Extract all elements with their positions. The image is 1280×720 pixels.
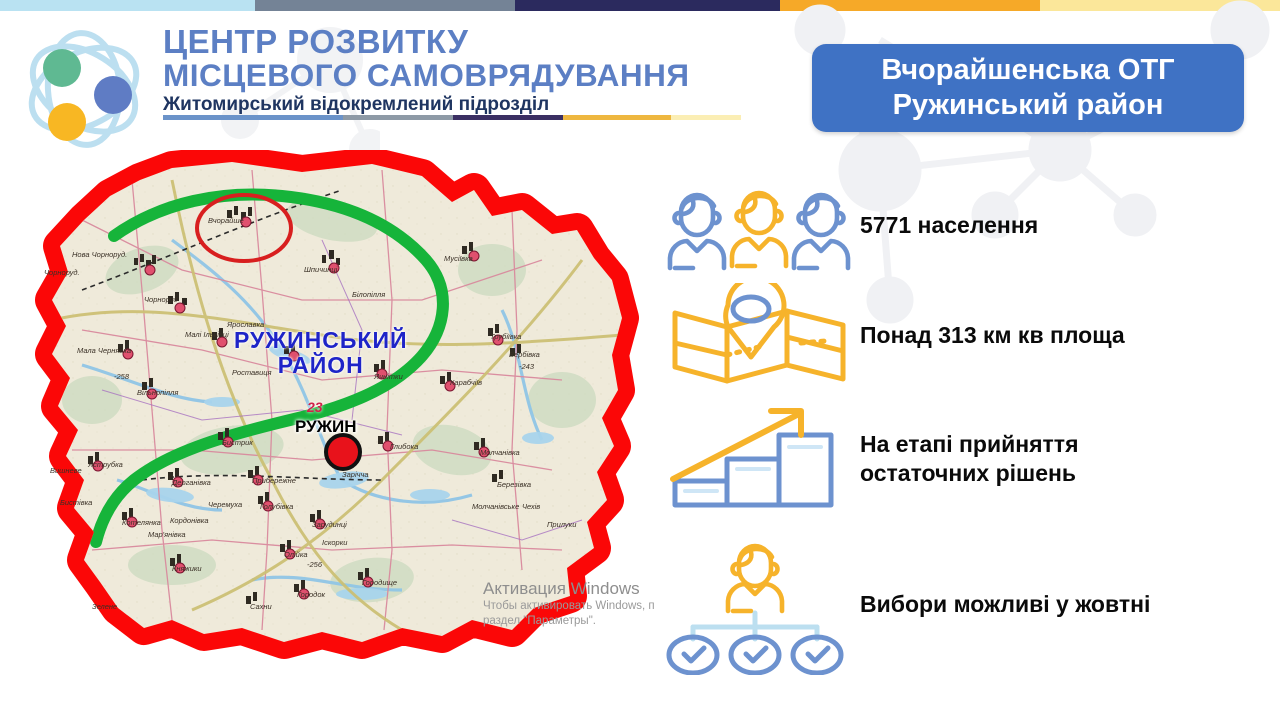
windows-activation-watermark: Активация Windows Чтобы активировать Win… bbox=[483, 578, 655, 628]
growth-chart-icon bbox=[660, 403, 860, 515]
logo-circle-yellow bbox=[48, 103, 86, 141]
watermark-line2: Чтобы активировать Windows, п bbox=[483, 599, 655, 613]
header-underline-rule bbox=[163, 115, 741, 120]
topbar-segment-pale-yellow bbox=[1040, 0, 1280, 11]
rule-segment-gray bbox=[343, 115, 453, 120]
area-text: Понад 313 км кв площа bbox=[860, 321, 1125, 350]
topbar-segment-gray bbox=[255, 0, 515, 11]
folded-map-icon bbox=[660, 283, 860, 389]
watermark-line3: раздел "Параметры". bbox=[483, 614, 655, 628]
rule-segment-blue bbox=[163, 115, 343, 120]
logo-circle-green bbox=[43, 49, 81, 87]
rayon-name: Ружинський район bbox=[893, 88, 1164, 123]
organization-logo bbox=[18, 26, 150, 152]
info-row-elections: Вибори можливі у жовтні bbox=[660, 530, 1280, 680]
top-color-bar bbox=[0, 0, 1280, 11]
info-row-area: Понад 313 км кв площа bbox=[660, 282, 1280, 390]
otg-title-badge: Вчорайшенська ОТГ Ружинський район bbox=[812, 44, 1244, 132]
info-row-stage: На етапі прийняття остаточних рішень bbox=[660, 400, 1280, 518]
stage-text: На етапі прийняття остаточних рішень bbox=[860, 430, 1079, 489]
header-title-line1: ЦЕНТР РОЗВИТКУ bbox=[163, 25, 743, 59]
rule-segment-navy bbox=[453, 115, 563, 120]
topbar-segment-navy bbox=[515, 0, 780, 11]
header-subtitle: Житомирський відокремлений підрозділ bbox=[163, 94, 743, 116]
topbar-segment-light-blue bbox=[0, 0, 255, 11]
topbar-segment-amber bbox=[780, 0, 1040, 11]
population-text: 5771 населення bbox=[860, 211, 1038, 240]
header-title-block: ЦЕНТР РОЗВИТКУ МІСЦЕВОГО САМОВРЯДУВАННЯ … bbox=[163, 25, 743, 116]
rule-segment-pale bbox=[671, 115, 741, 120]
org-chart-icon bbox=[660, 535, 860, 675]
logo-circle-blue bbox=[94, 76, 132, 114]
header-title-line2: МІСЦЕВОГО САМОВРЯДУВАННЯ bbox=[163, 59, 743, 91]
rule-segment-amber bbox=[563, 115, 671, 120]
info-row-population: 5771 населення bbox=[660, 176, 1280, 276]
watermark-title: Активация Windows bbox=[483, 578, 655, 599]
elections-text: Вибори можливі у жовтні bbox=[860, 590, 1150, 619]
otg-name: Вчорайшенська ОТГ bbox=[881, 53, 1174, 88]
three-people-icon bbox=[660, 180, 860, 272]
